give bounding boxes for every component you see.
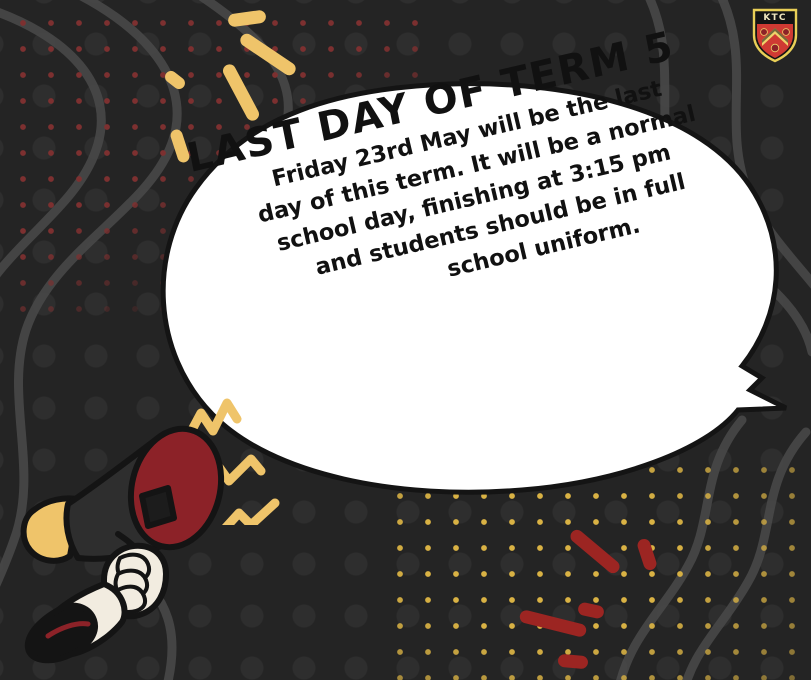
megaphone-mouthpiece [142,488,174,526]
crest-rose-bottom [771,44,779,52]
ktc-crest-logo: KTC [752,7,798,63]
crest-rose-right [783,29,790,36]
crest-rose-left [761,29,768,36]
red-dash-5 [557,654,588,670]
crest-initials: KTC [763,13,786,23]
poster-canvas: LAST DAY OF TERM 5 Friday 23rd May will … [0,0,811,680]
megaphone-illustration [8,392,308,672]
